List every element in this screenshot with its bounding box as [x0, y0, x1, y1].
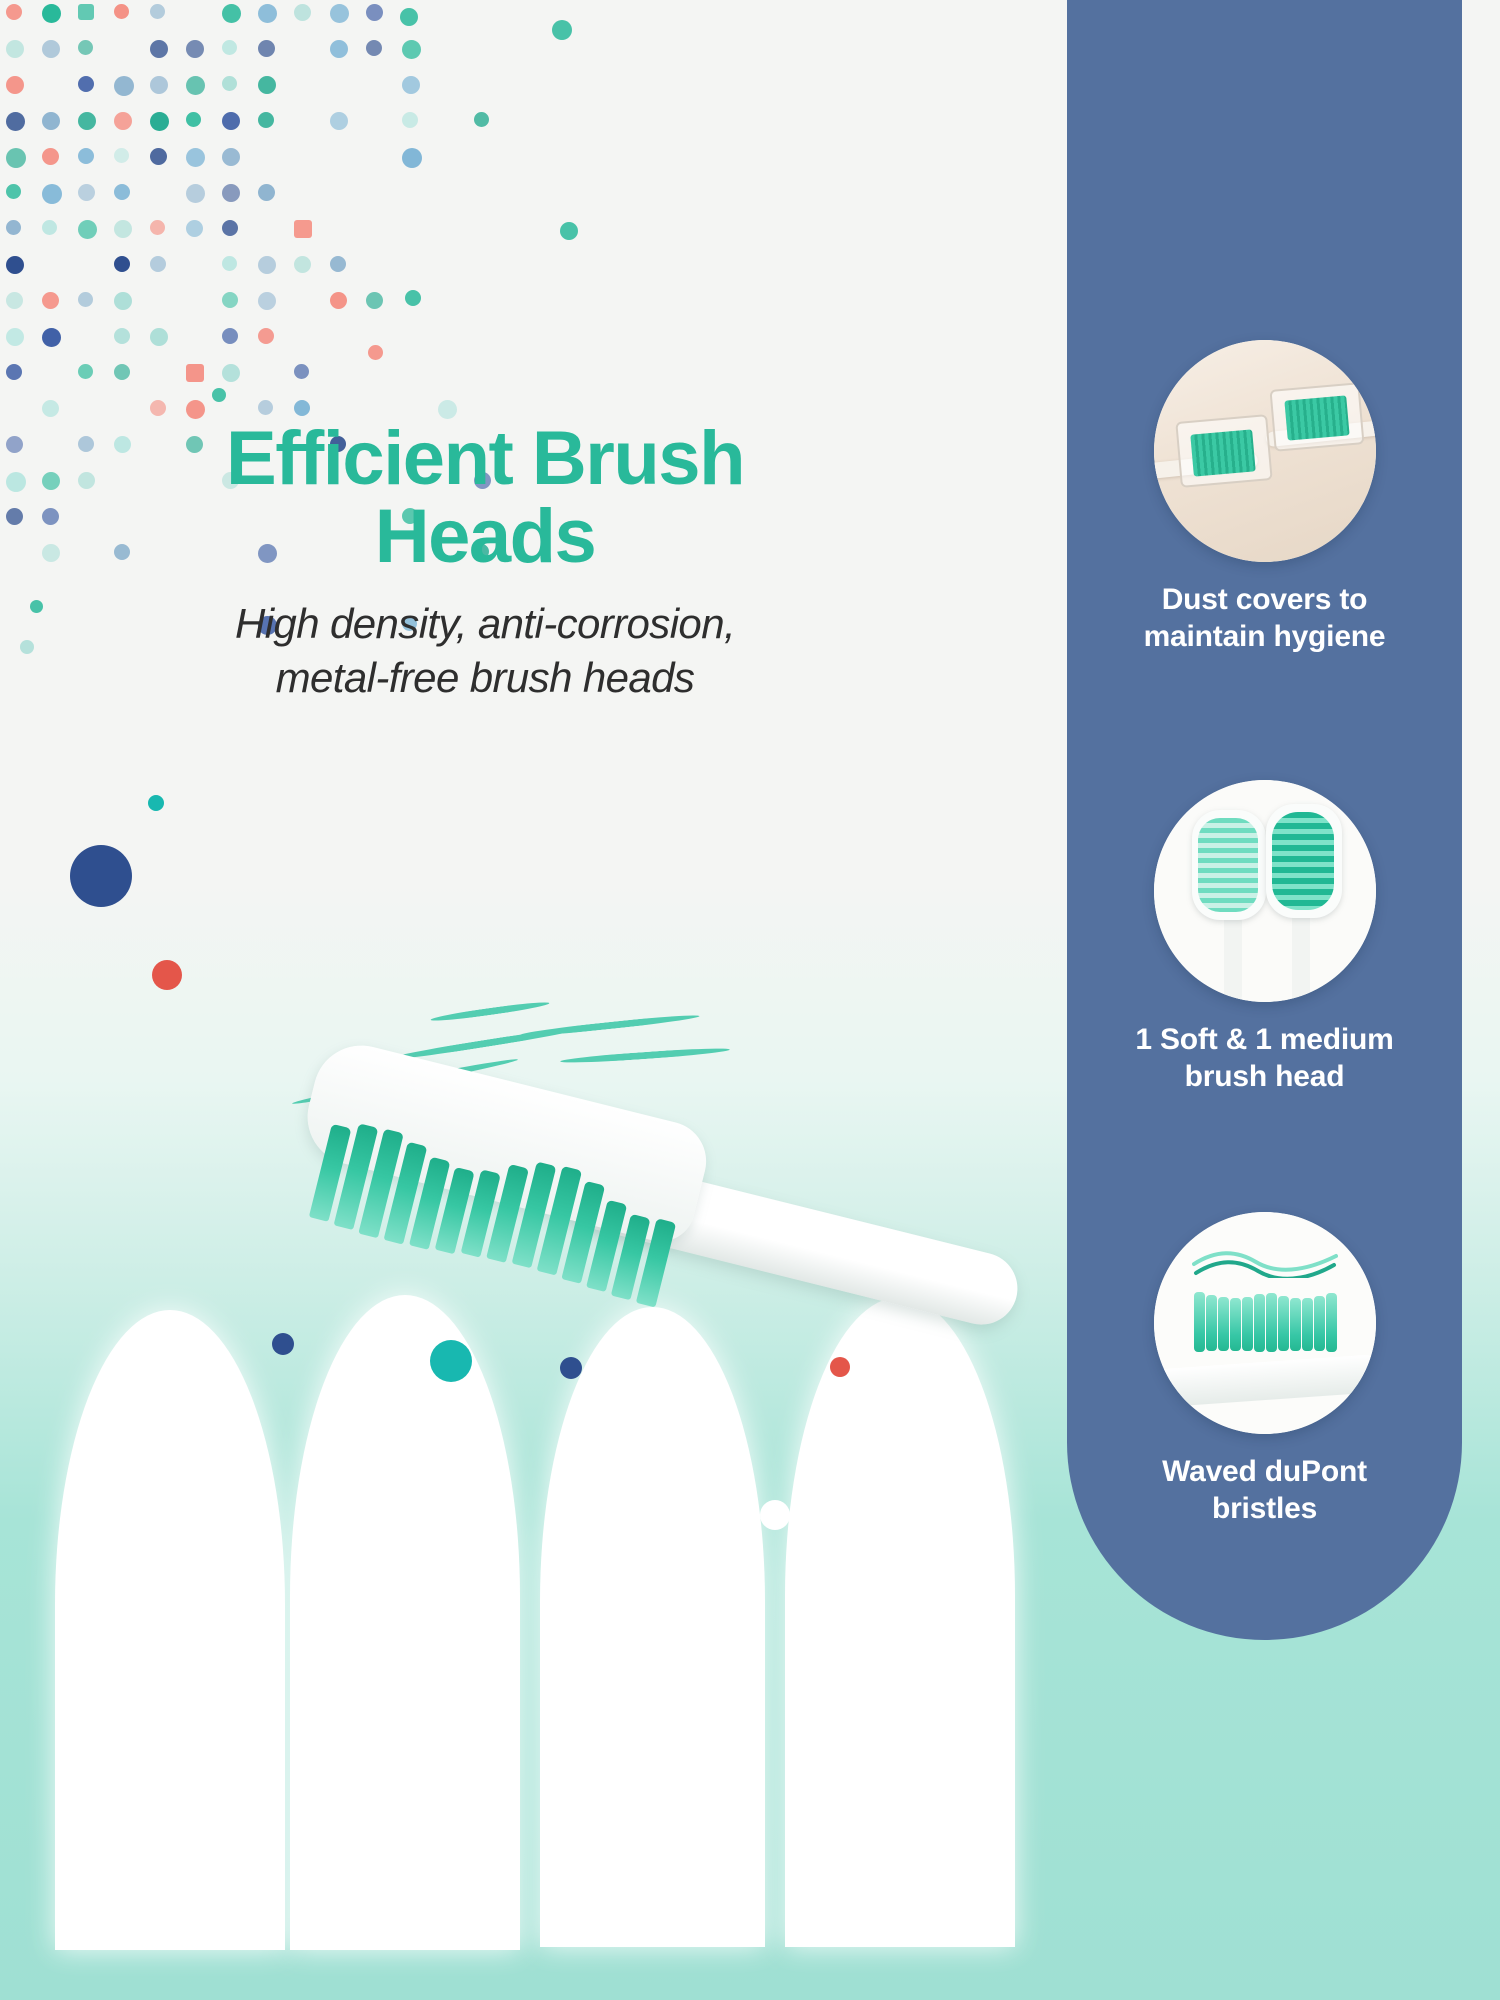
- tooth-shape: [540, 1307, 765, 1947]
- decorative-dot: [222, 220, 238, 236]
- decorative-dot: [150, 112, 169, 131]
- feature-item-dust-covers: Dust covers to maintain hygiene: [1067, 340, 1462, 655]
- bristle-tuft: [1326, 1293, 1337, 1351]
- bristle-tuft: [1314, 1296, 1325, 1351]
- page-subtitle: High density, anti-corrosion, metal-free…: [90, 597, 880, 705]
- decorative-dot: [6, 472, 26, 492]
- decorative-accent-dot: [760, 1500, 790, 1530]
- headline-block: Efficient Brush Heads High density, anti…: [90, 420, 880, 705]
- decorative-dot: [42, 184, 62, 204]
- decorative-dot: [42, 112, 60, 130]
- toothbrush-head-illustration: [270, 990, 1010, 1390]
- bristle-tuft: [1302, 1298, 1313, 1351]
- decorative-dot: [330, 112, 348, 130]
- decorative-dot: [258, 292, 276, 310]
- infographic-page: Efficient Brush Heads High density, anti…: [0, 0, 1500, 2000]
- decorative-dot: [30, 600, 43, 613]
- decorative-dot: [42, 40, 60, 58]
- soft-and-medium-brush-heads-photo: [1154, 780, 1376, 1002]
- feature-caption-dust-covers: Dust covers to maintain hygiene: [1067, 582, 1462, 655]
- bristle-tuft: [1278, 1296, 1289, 1351]
- brush-heads-with-dust-covers-photo: [1154, 340, 1376, 562]
- decorative-dot: [114, 220, 132, 238]
- decorative-dot: [114, 292, 132, 310]
- decorative-dot: [150, 328, 168, 346]
- decorative-dot: [366, 4, 383, 21]
- decorative-dot: [186, 148, 205, 167]
- decorative-dot: [6, 40, 24, 58]
- decorative-dot: [150, 400, 166, 416]
- wave-indicator-icon: [1192, 1248, 1338, 1278]
- decorative-dot: [294, 4, 311, 21]
- decorative-dot: [186, 112, 201, 127]
- decorative-dot: [402, 76, 420, 94]
- decorative-dot: [186, 364, 204, 382]
- bristle-tuft: [1266, 1293, 1277, 1352]
- decorative-dot: [114, 184, 130, 200]
- decorative-dot: [42, 328, 61, 347]
- decorative-dot: [6, 508, 23, 525]
- feature-item-soft-medium: 1 Soft & 1 medium brush head: [1067, 780, 1462, 1095]
- decorative-dot: [186, 400, 205, 419]
- decorative-dot: [186, 40, 204, 58]
- decorative-dot: [212, 388, 226, 402]
- brushing-motion-line-5: [560, 1046, 730, 1065]
- decorative-dot: [42, 508, 59, 525]
- page-title: Efficient Brush Heads: [90, 420, 880, 575]
- decorative-dot: [114, 148, 129, 163]
- decorative-dot: [366, 40, 382, 56]
- decorative-dot: [294, 220, 312, 238]
- decorative-accent-dot: [148, 795, 164, 811]
- decorative-dot: [474, 112, 489, 127]
- feature-caption-soft-medium: 1 Soft & 1 medium brush head: [1067, 1022, 1462, 1095]
- decorative-dot: [222, 292, 238, 308]
- bristle-tuft: [1290, 1298, 1301, 1351]
- decorative-dot: [258, 328, 274, 344]
- decorative-dot: [400, 8, 418, 26]
- feature-caption-line-2: maintain hygiene: [1081, 619, 1448, 656]
- decorative-dot: [150, 40, 168, 58]
- decorative-dot: [222, 40, 237, 55]
- decorative-dot: [78, 220, 97, 239]
- decorative-accent-dot: [152, 960, 182, 990]
- decorative-dot: [222, 148, 240, 166]
- decorative-dot: [222, 4, 241, 23]
- decorative-dot: [258, 184, 275, 201]
- decorative-dot: [114, 256, 130, 272]
- decorative-dot: [42, 292, 59, 309]
- decorative-dot: [20, 640, 34, 654]
- decorative-dot: [114, 76, 134, 96]
- decorative-dot: [366, 292, 383, 309]
- decorative-dot: [222, 364, 240, 382]
- decorative-dot: [294, 364, 309, 379]
- decorative-dot: [150, 4, 165, 19]
- decorative-dot: [258, 76, 276, 94]
- decorative-dot: [150, 148, 167, 165]
- decorative-dot: [222, 256, 237, 271]
- decorative-dot: [114, 364, 130, 380]
- decorative-dot: [330, 256, 346, 272]
- brushing-motion-line-4: [520, 1013, 700, 1039]
- bristle-tuft: [1218, 1297, 1229, 1351]
- decorative-dot: [552, 20, 572, 40]
- decorative-dot: [294, 256, 311, 273]
- decorative-dot: [78, 292, 93, 307]
- decorative-dot: [258, 4, 277, 23]
- bristle-tuft: [1254, 1294, 1265, 1351]
- decorative-dot: [6, 148, 26, 168]
- page-title-line-1: Efficient Brush: [90, 420, 880, 498]
- tooth-shape: [785, 1297, 1015, 1947]
- decorative-dot: [6, 184, 21, 199]
- decorative-dot: [6, 220, 21, 235]
- decorative-dot: [114, 4, 129, 19]
- feature-caption-line-2: bristles: [1081, 1491, 1448, 1528]
- decorative-dot: [258, 256, 276, 274]
- stylized-teeth-row-illustration: [0, 1285, 1040, 2000]
- decorative-dot: [150, 256, 166, 272]
- decorative-dot: [186, 220, 203, 237]
- page-subtitle-line-2: metal-free brush heads: [90, 651, 880, 705]
- decorative-dot: [560, 222, 578, 240]
- tooth-shape: [55, 1310, 285, 1950]
- decorative-dot: [42, 4, 61, 23]
- decorative-dot: [78, 148, 94, 164]
- feature-caption-line-1: Waved duPont: [1081, 1454, 1448, 1491]
- decorative-dot: [405, 290, 421, 306]
- decorative-dot: [294, 400, 310, 416]
- feature-caption-line-1: Dust covers to: [1081, 582, 1448, 619]
- feature-item-waved-bristles: Waved duPont bristles: [1067, 1212, 1462, 1527]
- decorative-dot: [6, 256, 24, 274]
- decorative-dot: [114, 328, 130, 344]
- decorative-dot: [150, 220, 165, 235]
- feature-caption-line-2: brush head: [1081, 1059, 1448, 1096]
- decorative-dot: [6, 364, 22, 380]
- decorative-dot: [330, 40, 348, 58]
- decorative-dot: [6, 76, 24, 94]
- decorative-dot: [78, 76, 94, 92]
- decorative-dot: [42, 472, 60, 490]
- decorative-dot: [78, 112, 96, 130]
- decorative-dot: [6, 292, 23, 309]
- decorative-dot: [402, 112, 418, 128]
- decorative-dot: [6, 112, 25, 131]
- decorative-dot: [258, 400, 273, 415]
- decorative-dot: [150, 76, 168, 94]
- decorative-dot: [6, 328, 24, 346]
- bristle-tuft: [1194, 1292, 1205, 1352]
- page-title-line-2: Heads: [90, 498, 880, 576]
- decorative-dot: [78, 40, 93, 55]
- feature-caption-line-1: 1 Soft & 1 medium: [1081, 1022, 1448, 1059]
- feature-caption-waved-bristles: Waved duPont bristles: [1067, 1454, 1462, 1527]
- decorative-dot: [368, 345, 383, 360]
- decorative-dot: [222, 112, 240, 130]
- decorative-dot: [222, 76, 237, 91]
- decorative-dot: [186, 76, 205, 95]
- bristle-tuft: [1206, 1295, 1217, 1351]
- decorative-dot: [42, 148, 59, 165]
- waved-dupont-bristles-photo: [1154, 1212, 1376, 1434]
- decorative-dot: [6, 4, 22, 20]
- decorative-dot: [402, 40, 421, 59]
- decorative-accent-dot: [70, 845, 132, 907]
- tooth-shape: [290, 1295, 520, 1950]
- decorative-dot: [42, 400, 59, 417]
- decorative-dot: [258, 40, 275, 57]
- decorative-dot: [330, 4, 349, 23]
- page-subtitle-line-1: High density, anti-corrosion,: [90, 597, 880, 651]
- decorative-dot: [78, 4, 94, 20]
- decorative-dot: [258, 112, 274, 128]
- decorative-dot: [330, 292, 347, 309]
- decorative-dot: [222, 184, 240, 202]
- features-panel: Dust covers to maintain hygiene 1 Soft &…: [1067, 0, 1462, 1640]
- decorative-dot: [42, 220, 57, 235]
- brushing-motion-line-3: [430, 1000, 550, 1024]
- decorative-dot: [186, 184, 205, 203]
- bristle-tuft: [1230, 1298, 1241, 1351]
- decorative-dot: [78, 364, 93, 379]
- decorative-dot: [6, 436, 23, 453]
- decorative-dot: [222, 328, 238, 344]
- decorative-dot: [78, 184, 95, 201]
- decorative-dot: [114, 112, 132, 130]
- decorative-dot: [402, 148, 422, 168]
- bristle-tuft: [1242, 1297, 1253, 1351]
- decorative-dot: [42, 544, 60, 562]
